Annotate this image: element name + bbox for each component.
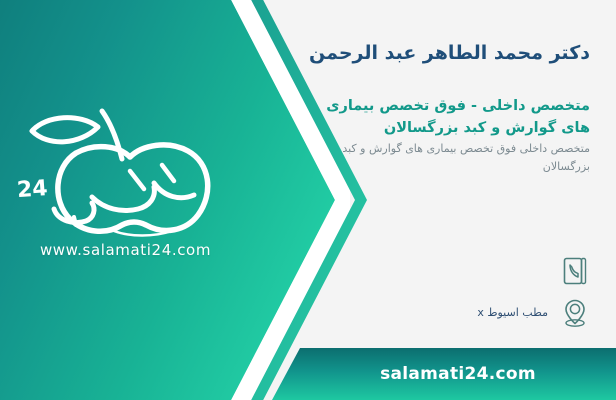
- doctor-specialty-secondary: متخصص داخلی فوق تخصص بیماری های گوارش و …: [300, 140, 590, 175]
- doctor-profile-card: 24 www.salamati24.com دكتر محمد الطاهر ع…: [0, 0, 616, 400]
- doctor-specialty: متخصص داخلی - فوق تخصص بیماری های گوارش …: [300, 95, 590, 140]
- contact-label-location: مطب اسیوط x: [477, 305, 548, 322]
- doctor-name: دكتر محمد الطاهر عبد الرحمن: [300, 40, 590, 68]
- svg-text:24: 24: [18, 176, 48, 203]
- footer-website-url[interactable]: salamati24.com: [300, 348, 616, 400]
- location-pin-icon: [558, 294, 592, 332]
- logo-website-url: www.salamati24.com: [18, 241, 233, 259]
- phone-book-icon: [558, 252, 592, 290]
- contact-row-phone[interactable]: [300, 250, 592, 292]
- contact-row-location[interactable]: مطب اسیوط x: [300, 292, 592, 334]
- contact-list: مطب اسیوط x: [300, 250, 592, 334]
- info-panel: دكتر محمد الطاهر عبد الرحمن متخصص داخلی …: [300, 0, 600, 400]
- brand-logo: 24 www.salamati24.com: [18, 105, 233, 265]
